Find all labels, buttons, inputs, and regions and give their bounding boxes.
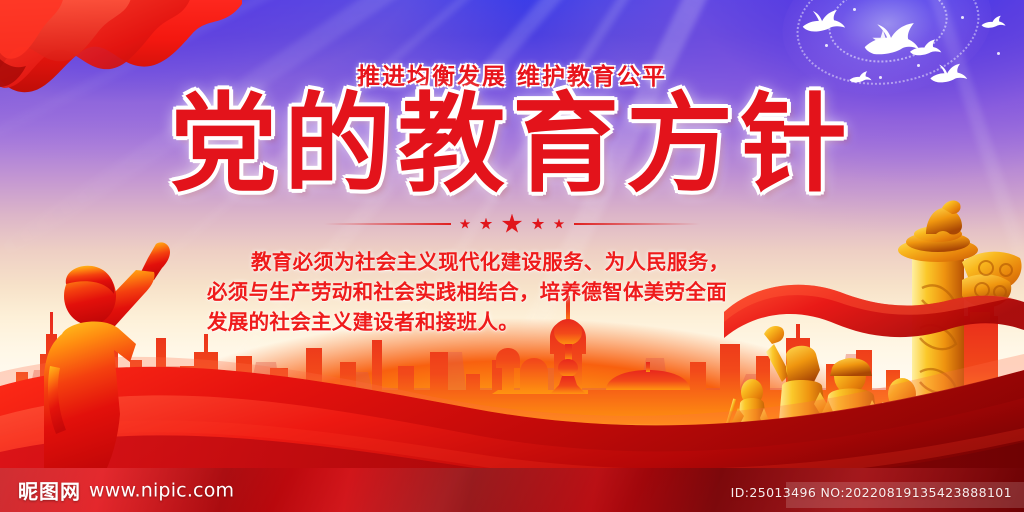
sparkle-icon <box>853 8 856 11</box>
poster-body-text: 教育必须为社会主义现代化建设服务、为人民服务， 必须与生产劳动和社会实践相结合，… <box>207 247 817 337</box>
id-watermark-text: ID:25013496 NO:20220819135423888101 <box>731 485 1012 500</box>
nipic-url-text: www.nipic.com <box>89 479 234 501</box>
divider-star-icon <box>532 218 545 231</box>
divider-star-icon <box>460 219 471 230</box>
poster-canvas: 推进均衡发展 维护教育公平 党的教育方针 教育必须为社会主义现代化建设服务、为人… <box>0 0 1024 512</box>
sparkle-icon <box>825 44 828 47</box>
sparkle-icon <box>961 16 964 19</box>
divider-line-right <box>574 223 701 225</box>
dove-icon <box>980 14 1006 32</box>
nipic-logo-text: 昵图网 <box>18 476 81 505</box>
divider-star-icon <box>480 218 493 231</box>
body-line-3: 发展的社会主义建设者和接班人。 <box>207 310 519 334</box>
pointing-figure-silhouette <box>44 238 194 478</box>
dove-icon <box>800 8 846 38</box>
body-line-1: 教育必须为社会主义现代化建设服务、为人民服务， <box>207 247 817 277</box>
body-line-2: 必须与生产劳动和社会实践相结合，培养德智体美劳全面 <box>207 280 727 304</box>
divider-star-icon <box>554 219 565 230</box>
divider-star-icon-center <box>502 214 523 235</box>
sparkle-icon <box>997 52 1000 55</box>
poster-title: 党的教育方针 <box>0 92 1024 199</box>
star-divider <box>324 212 700 236</box>
divider-line-left <box>324 223 451 225</box>
watermark-brand[interactable]: 昵图网 www.nipic.com <box>18 476 234 505</box>
